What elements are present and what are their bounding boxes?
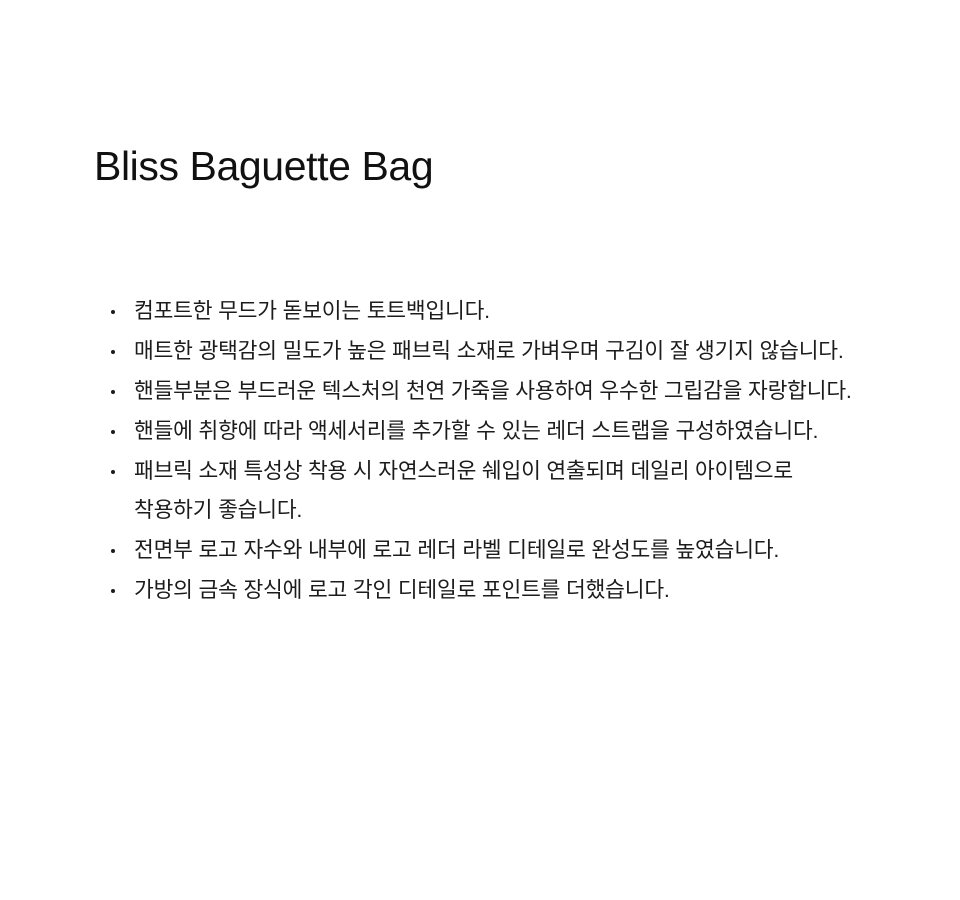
bullet-point-icon	[111, 470, 115, 474]
bullet-point-icon	[111, 589, 115, 593]
list-item: 패브릭 소재 특성상 착용 시 자연스러운 쉐입이 연출되며 데일리 아이템으로…	[108, 452, 864, 530]
list-item-label: 컴포트한 무드가 돋보이는 토트백입니다.	[134, 292, 864, 331]
list-item: 전면부 로고 자수와 내부에 로고 레더 라벨 디테일로 완성도를 높였습니다.	[108, 531, 864, 570]
list-item: 가방의 금속 장식에 로고 각인 디테일로 포인트를 더했습니다.	[108, 571, 864, 610]
bullet-point-icon	[111, 549, 115, 553]
list-item-label: 전면부 로고 자수와 내부에 로고 레더 라벨 디테일로 완성도를 높였습니다.	[134, 531, 864, 570]
list-item-label: 패브릭 소재 특성상 착용 시 자연스러운 쉐입이 연출되며 데일리 아이템으로…	[134, 452, 864, 530]
list-item: 핸들에 취향에 따라 액세서리를 추가할 수 있는 레더 스트랩을 구성하였습니…	[108, 412, 864, 451]
list-item: 매트한 광택감의 밀도가 높은 패브릭 소재로 가벼우며 구김이 잘 생기지 않…	[108, 332, 864, 371]
bullet-point-icon	[111, 430, 115, 434]
feature-list: 컴포트한 무드가 돋보이는 토트백입니다. 매트한 광택감의 밀도가 높은 패브…	[108, 292, 864, 611]
list-item: 컴포트한 무드가 돋보이는 토트백입니다.	[108, 292, 864, 331]
bullet-point-icon	[111, 350, 115, 354]
bullet-point-icon	[111, 390, 115, 394]
list-item-label: 핸들에 취향에 따라 액세서리를 추가할 수 있는 레더 스트랩을 구성하였습니…	[134, 412, 864, 451]
product-description-page: Bliss Baguette Bag 컴포트한 무드가 돋보이는 토트백입니다.…	[0, 0, 960, 900]
list-item: 핸들부분은 부드러운 텍스처의 천연 가죽을 사용하여 우수한 그립감을 자랑합…	[108, 372, 864, 411]
bullet-point-icon	[111, 310, 115, 314]
page-title: Bliss Baguette Bag	[94, 142, 433, 190]
list-item-label: 핸들부분은 부드러운 텍스처의 천연 가죽을 사용하여 우수한 그립감을 자랑합…	[134, 372, 864, 411]
list-item-label: 가방의 금속 장식에 로고 각인 디테일로 포인트를 더했습니다.	[134, 571, 864, 610]
list-item-label: 매트한 광택감의 밀도가 높은 패브릭 소재로 가벼우며 구김이 잘 생기지 않…	[134, 332, 864, 371]
